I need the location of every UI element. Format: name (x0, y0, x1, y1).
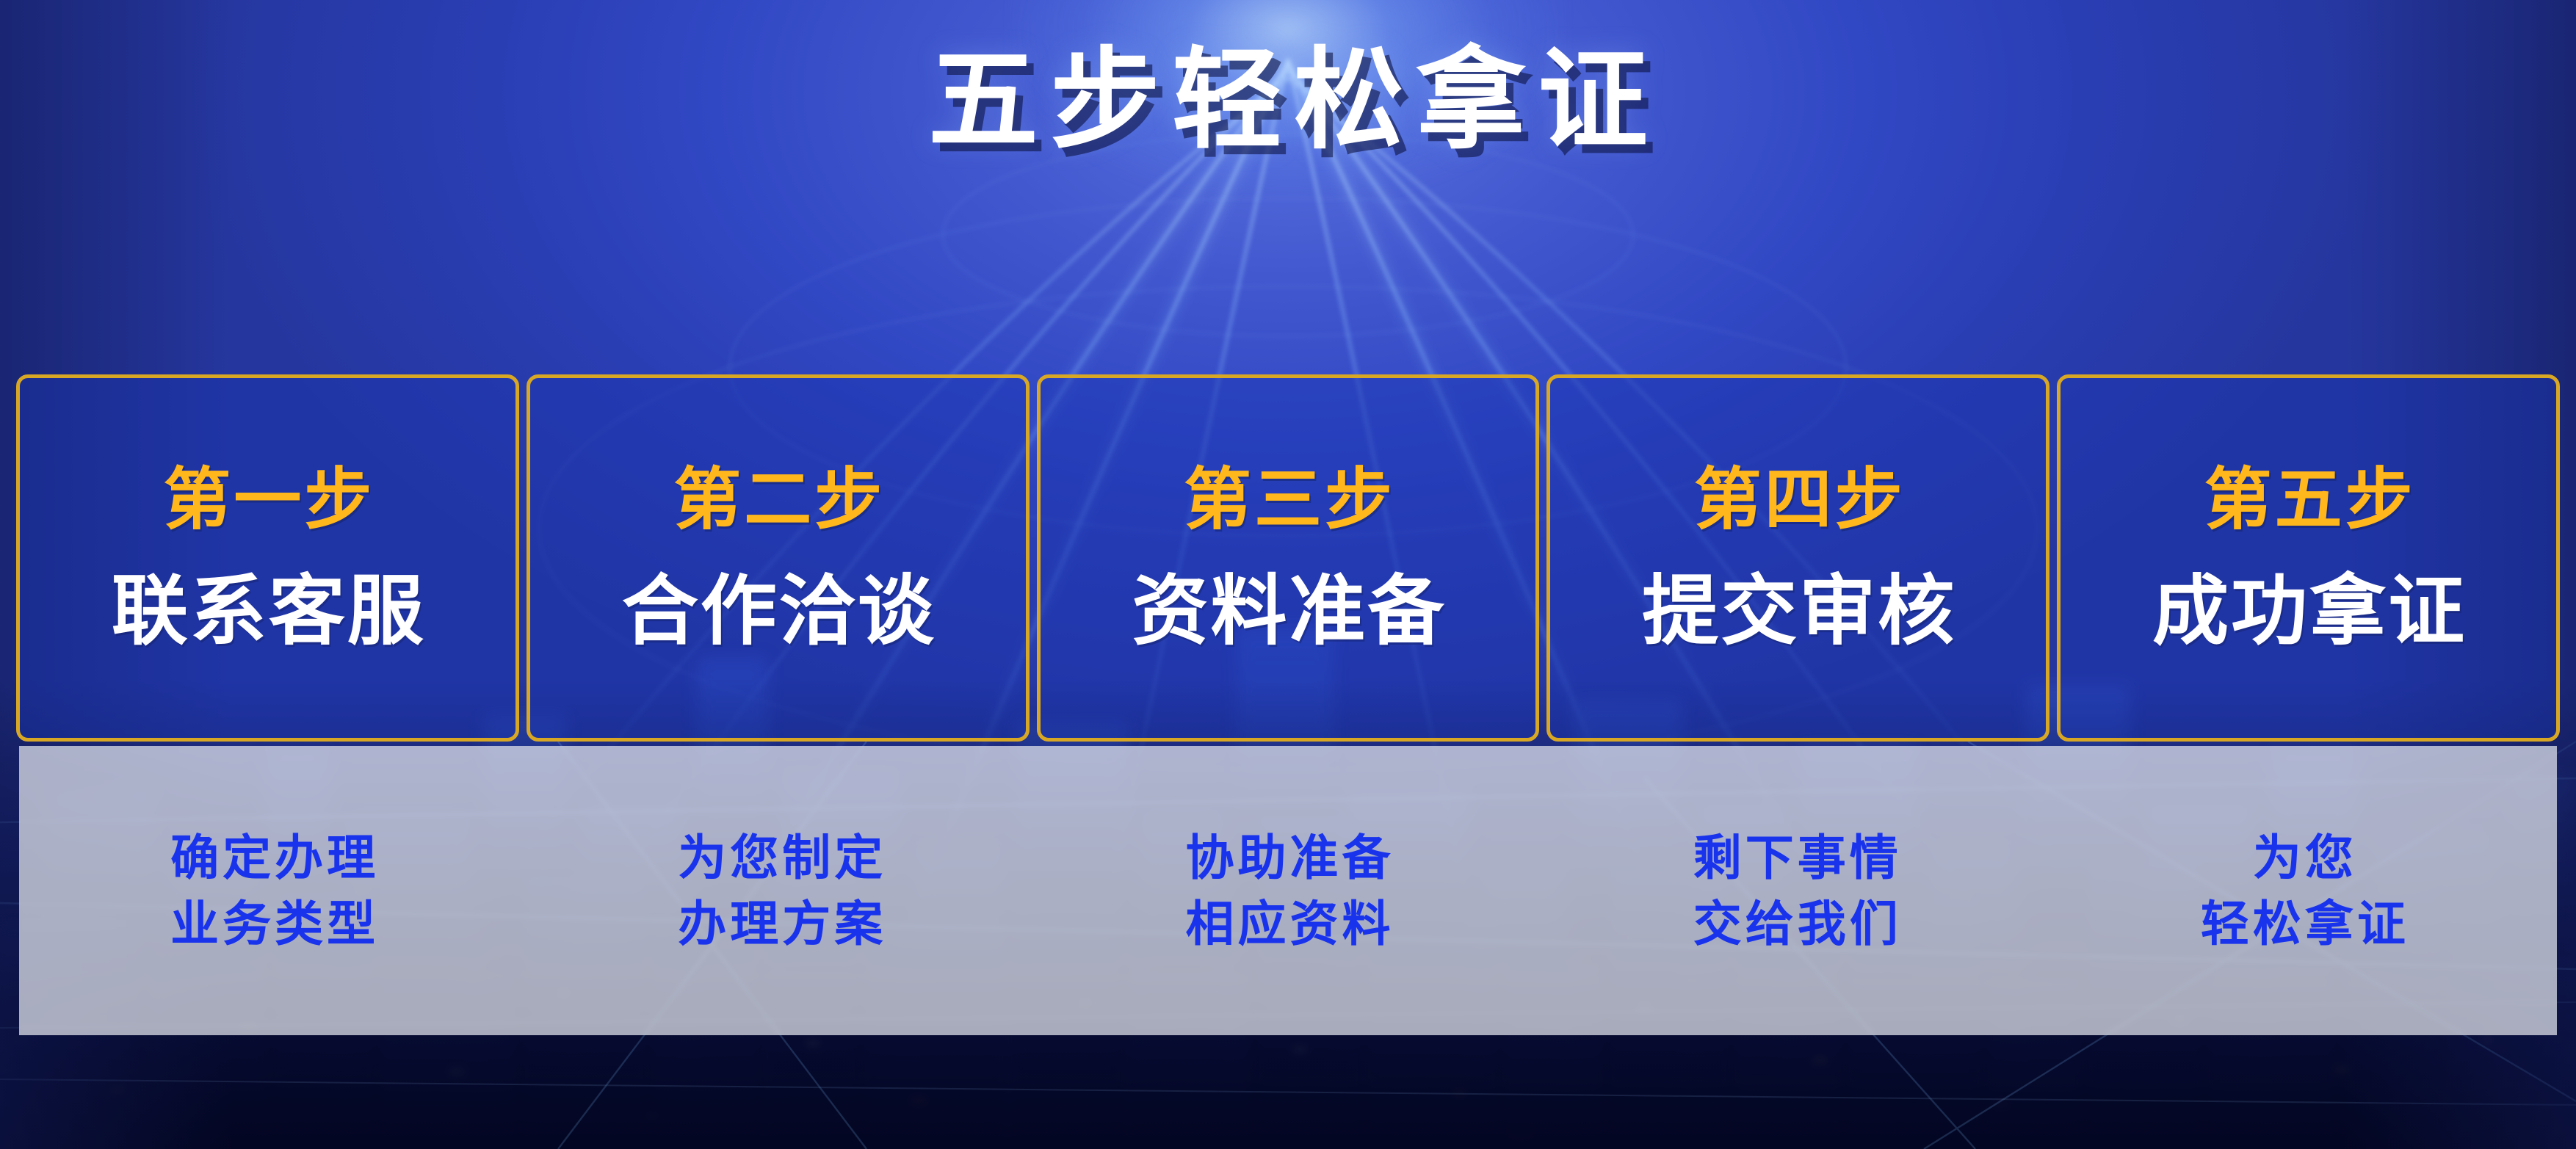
step-name-label-1: 联系客服 (109, 573, 426, 650)
step-description-5-line-2: 轻松拿证 (2197, 893, 2409, 954)
step-name-label-4: 提交审核 (1640, 573, 1956, 650)
step-number-label-5: 第五步 (2201, 466, 2416, 534)
step-box-5[interactable]: 第五步 成功拿证 (2057, 374, 2560, 742)
step-box-1[interactable]: 第一步 联系客服 (16, 374, 519, 742)
step-description-2-line-2: 办理方案 (674, 893, 886, 954)
step-name-label-5: 成功拿证 (2150, 573, 2467, 650)
step-description-5: 为您 轻松拿证 (2049, 746, 2557, 1035)
steps-row: 第一步 联系客服 第二步 合作洽谈 第三步 资料准备 第四步 提交审核 第五步 … (16, 374, 2560, 742)
step-name-label-3: 资料准备 (1129, 573, 1446, 650)
step-description-1: 确定办理 业务类型 (19, 746, 527, 1035)
step-description-4: 剩下事情 交给我们 (1542, 746, 2049, 1035)
step-descriptions-panel: 确定办理 业务类型 为您制定 办理方案 协助准备 相应资料 剩下事情 交给我们 … (19, 746, 2557, 1035)
step-box-3[interactable]: 第三步 资料准备 (1037, 374, 1540, 742)
step-description-4-line-2: 交给我们 (1690, 893, 1902, 954)
step-description-5-line-1: 为您 (2249, 827, 2357, 888)
step-box-2[interactable]: 第二步 合作洽谈 (527, 374, 1030, 742)
step-description-3-line-2: 相应资料 (1182, 893, 1394, 954)
step-description-1-line-1: 确定办理 (167, 827, 379, 888)
step-name-label-2: 合作洽谈 (620, 573, 936, 650)
step-number-label-1: 第一步 (160, 466, 375, 534)
banner-title: 五步轻松拿证 (0, 38, 2576, 162)
step-description-3: 协助准备 相应资料 (1034, 746, 1541, 1035)
promo-banner: 五步轻松拿证 第一步 联系客服 第二步 合作洽谈 第三步 资料准备 第四步 提交… (0, 0, 2576, 1149)
step-number-label-3: 第三步 (1181, 466, 1395, 534)
step-box-4[interactable]: 第四步 提交审核 (1546, 374, 2049, 742)
step-description-4-line-1: 剩下事情 (1690, 827, 1902, 888)
step-number-label-2: 第二步 (670, 466, 885, 534)
step-description-2: 为您制定 办理方案 (527, 746, 1034, 1035)
step-number-label-4: 第四步 (1691, 466, 1906, 534)
step-description-2-line-1: 为您制定 (674, 827, 886, 888)
step-description-3-line-1: 协助准备 (1182, 827, 1394, 888)
step-description-1-line-2: 业务类型 (167, 893, 379, 954)
